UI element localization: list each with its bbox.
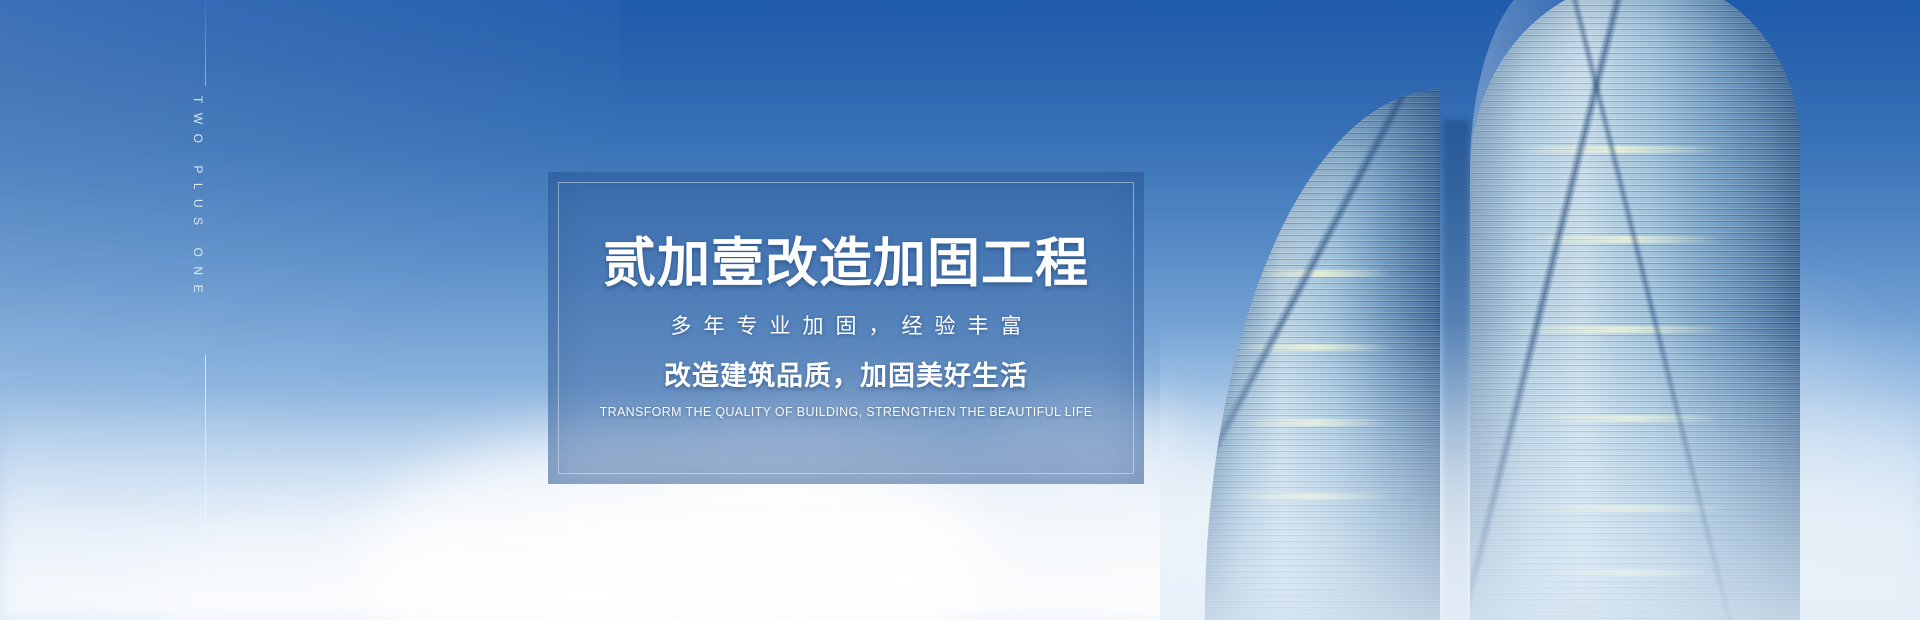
hero-banner: TWO PLUS ONE 1 贰加壹改造加固工程 多年专业加固，经验丰富 改造建… — [0, 0, 1920, 620]
window-light-band — [1523, 505, 1728, 512]
curved-glass-tower-left-icon — [1200, 90, 1440, 620]
curved-glass-tower-right-icon — [1470, 0, 1800, 620]
window-light-band — [1543, 569, 1715, 576]
panel-subtitle: 多年专业加固，经验丰富 — [659, 316, 1034, 337]
window-light-band — [1224, 493, 1392, 500]
headline-panel: 贰加壹改造加固工程 多年专业加固，经验丰富 改造建筑品质，加固美好生活 TRAN… — [548, 172, 1144, 484]
tower-gap-shadow — [1443, 120, 1469, 620]
window-light-band — [1243, 419, 1387, 426]
window-light-band — [1516, 146, 1721, 153]
vertical-brand-rail: TWO PLUS ONE 1 — [176, 0, 236, 620]
skyscraper-photo — [1160, 0, 1920, 620]
panel-slogan-english: TRANSFORM THE QUALITY OF BUILDING, STREN… — [600, 406, 1093, 419]
window-light-band — [1536, 415, 1721, 422]
corner-mark-label: 1 — [185, 575, 196, 581]
vertical-divider-line — [205, 355, 206, 613]
panel-content: 贰加壹改造加固工程 多年专业加固，经验丰富 改造建筑品质，加固美好生活 TRAN… — [548, 172, 1144, 484]
vertical-brand-text: TWO PLUS ONE — [191, 96, 205, 302]
panel-slogan: 改造建筑品质，加固美好生活 — [664, 363, 1028, 390]
window-light-band — [1510, 326, 1728, 333]
window-light-band — [1253, 270, 1392, 277]
window-light-band — [1234, 344, 1392, 351]
window-light-band — [1529, 236, 1720, 243]
page-title: 贰加壹改造加固工程 — [603, 237, 1089, 290]
vertical-divider-line — [205, 0, 206, 86]
